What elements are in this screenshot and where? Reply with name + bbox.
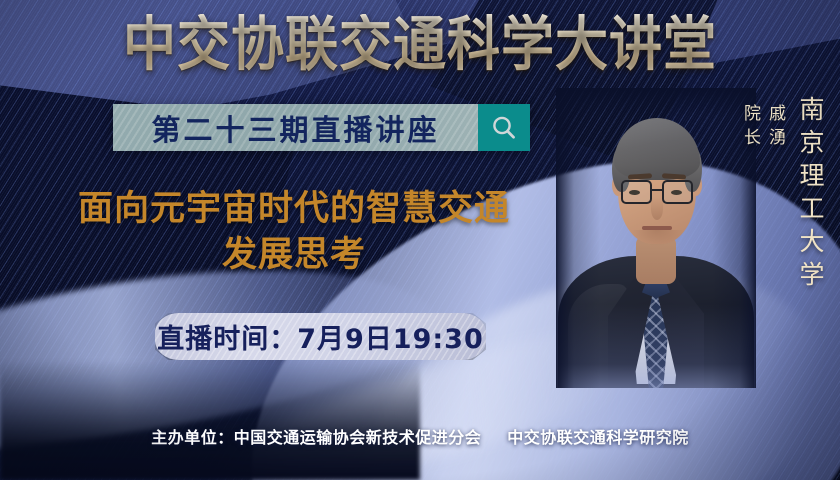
episode-label: 第二十三期直播讲座 <box>151 107 439 149</box>
organizer-label: 主办单位： <box>151 428 234 447</box>
bottom-shadow <box>0 360 420 480</box>
speaker-name: 戚湧 <box>765 104 785 152</box>
search-icon[interactable] <box>478 104 530 151</box>
portrait-hair <box>614 118 700 180</box>
lecture-topic-line2: 发展思考 <box>34 232 554 278</box>
portrait-chin-shading <box>630 230 684 246</box>
speaker-portrait <box>556 88 756 388</box>
page-title: 中交协联交通科学大讲堂 <box>0 14 840 77</box>
lecture-topic-line1: 面向元宇宙时代的智慧交通 <box>78 189 510 229</box>
lecture-poster: 中交协联交通科学大讲堂 第二十三期直播讲座 面向元宇宙时代的智慧交通 发展思考 … <box>0 0 840 480</box>
episode-banner-body: 第二十三期直播讲座 <box>113 104 478 151</box>
broadcast-time-badge: 直播时间：7月9日19:30 <box>155 313 486 360</box>
speaker-organization: 南京理工大学 <box>792 96 828 294</box>
organizer-name-2: 中交协联交通科学研究院 <box>507 428 689 447</box>
lecture-topic: 面向元宇宙时代的智慧交通 发展思考 <box>34 186 554 278</box>
portrait-nose <box>651 198 663 220</box>
glasses-bridge <box>652 189 662 191</box>
organizer-footer: 主办单位：中国交通运输协会新技术促进分会中交协联交通科学研究院 <box>0 424 840 448</box>
glasses-lens-right <box>662 180 693 204</box>
broadcast-time-text: 直播时间：7月9日19:30 <box>157 317 484 356</box>
organizer-name-1: 中国交通运输协会新技术促进分会 <box>234 428 482 447</box>
speaker-credit: 戚湧 院长 <box>738 104 788 152</box>
glasses-lens-left <box>621 180 652 204</box>
speaker-title: 院长 <box>740 104 760 152</box>
episode-banner: 第二十三期直播讲座 <box>113 104 530 151</box>
